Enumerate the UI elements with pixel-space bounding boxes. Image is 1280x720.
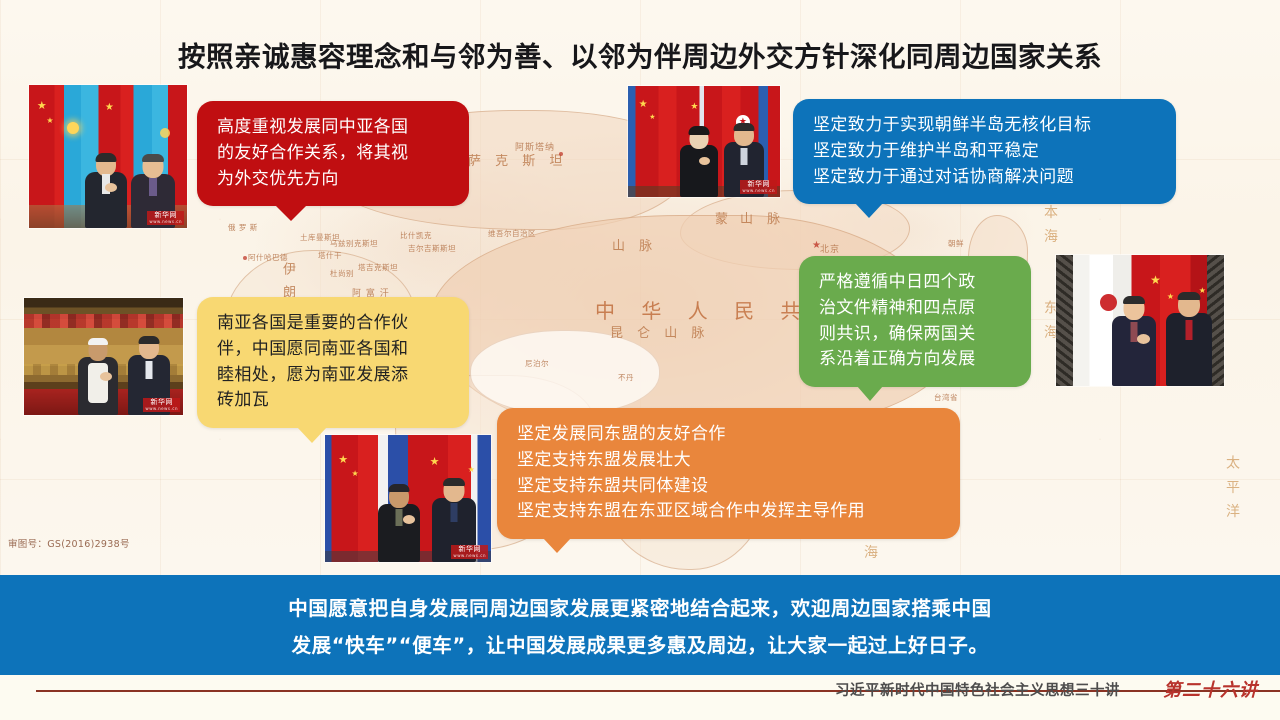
map-label-mongolia: 蒙: [715, 208, 733, 227]
photo-watermark-url: www.news.cn: [453, 554, 486, 558]
footer-series-title: 习近平新时代中国特色社会主义思想三十讲: [835, 679, 1120, 700]
handshake-icon: [403, 515, 415, 524]
map-label-russia: 俄 罗 斯: [228, 222, 258, 233]
callout-central-asia-line-3: 为外交优先方向: [217, 167, 451, 193]
callout-korea-line-2: 坚定致力于维护半岛和平稳定: [813, 139, 1158, 165]
map-label-taiwan-note: 台湾省: [934, 392, 958, 403]
figure-shinzo-abe: [1110, 294, 1158, 386]
callout-asean-line-2: 坚定支持东盟发展壮大: [517, 448, 942, 474]
callout-japan[interactable]: 严格遵循中日四个政 治文件精神和四点原 则共识，确保两国关 系沿着正确方向发展: [799, 256, 1031, 387]
flag-star-icon: ★: [1150, 273, 1161, 287]
callout-japan-line-4: 系沿着正确方向发展: [819, 347, 1013, 373]
map-label-tianshan-west: 山 脉: [612, 235, 657, 254]
map-label-pacific-ocean: 太 平 洋: [1222, 455, 1242, 521]
handshake-icon: [1137, 334, 1150, 344]
photo-south-asia: 新华网 www.news.cn: [24, 298, 183, 415]
callout-korea-line-1: 坚定致力于实现朝鲜半岛无核化目标: [813, 113, 1158, 139]
map-label-tajikistan: 塔吉克斯坦: [358, 262, 398, 273]
map-label-korea-peninsula: 朝鲜: [948, 238, 964, 249]
map-label-beijing: 北京: [820, 242, 840, 255]
bottom-banner: 中国愿意把自身发展同周边国家发展更紧密地结合起来，欢迎周边国家搭乘中国 发展“快…: [0, 575, 1280, 675]
photo-watermark: 新华网 www.news.cn: [740, 180, 777, 194]
photo-watermark-url: www.news.cn: [145, 407, 178, 411]
flag-star-icon: ★: [639, 99, 648, 110]
map-city-dot-ashgabat: [243, 256, 247, 260]
flag-star-icon-3: ★: [690, 102, 698, 112]
map-approval-number: 审图号：GS(2016)2938号: [8, 536, 130, 550]
flag-star-icon-2: ★: [352, 469, 359, 478]
callout-tail: [297, 427, 327, 443]
map-label-xinjiang: 维吾尔自治区: [488, 228, 536, 239]
map-label-kyrgyzstan: 吉尔吉斯斯坦: [408, 243, 456, 254]
callout-japan-line-2: 治文件精神和四点原: [819, 296, 1013, 322]
callout-japan-line-3: 则共识，确保两国关: [819, 322, 1013, 348]
callout-central-asia-line-1: 高度重视发展同中亚各国: [217, 115, 451, 141]
callout-tail: [543, 538, 571, 553]
callout-tail: [857, 386, 883, 401]
map-label-iran: 伊 朗: [278, 262, 297, 301]
flag-star-icon-3: ★: [430, 455, 440, 468]
map-label-kunlun: 昆 仑 山 脉: [610, 322, 709, 341]
map-label-bhutan: 不丹: [618, 372, 634, 383]
footer-lecture-number: 第二十六讲: [1163, 676, 1258, 702]
flag-star-icon-2: ★: [46, 116, 53, 125]
map-label-uzbekistan: 乌兹别克斯坦: [330, 238, 378, 249]
callout-south-asia-line-1: 南亚各国是重要的合作伙: [217, 311, 451, 337]
callout-central-asia[interactable]: 高度重视发展同中亚各国 的友好合作关系，将其视 为外交优先方向: [197, 101, 469, 206]
callout-asean[interactable]: 坚定发展同东盟的友好合作 坚定支持东盟发展壮大 坚定支持东盟共同体建设 坚定支持…: [497, 408, 960, 539]
handshake-icon: [105, 183, 117, 192]
callout-tail: [855, 203, 883, 218]
slide-root: 中 华 人 民 共 和 国 昆 仑 山 脉 萨 克 斯 坦 阿斯塔纳 蒙 山 脉…: [0, 0, 1280, 720]
flag-star-icon: ★: [338, 453, 348, 466]
callout-japan-line-1: 严格遵循中日四个政: [819, 270, 1013, 296]
flag-star-icon-4: ★: [468, 465, 475, 474]
callout-korea[interactable]: 坚定致力于实现朝鲜半岛无核化目标 坚定致力于维护半岛和平稳定 坚定致力于通过对话…: [793, 99, 1176, 204]
figure-xi-jinping: [83, 156, 129, 228]
slide-footer: 习近平新时代中国特色社会主义思想三十讲 第二十六讲: [0, 675, 1280, 720]
flag-star-icon-3: ★: [105, 102, 114, 113]
photo-japan: ★ ★ ★: [1056, 255, 1224, 386]
map-label-tianshan: 山 脉: [740, 208, 785, 227]
lattice-wall-left: [1056, 255, 1073, 386]
callout-south-asia[interactable]: 南亚各国是重要的合作伙 伴，中国愿同南亚各国和 睦相处，愿为南亚发展添 砖加瓦: [197, 297, 469, 428]
map-city-dot-astana: [559, 152, 563, 156]
page-title: 按照亲诚惠容理念和与邻为善、以邻为伴周边外交方针深化同周边国家关系: [0, 34, 1280, 74]
callout-asean-line-4: 坚定支持东盟在东亚区域合作中发挥主导作用: [517, 499, 942, 525]
callout-korea-line-3: 坚定致力于通过对话协商解决问题: [813, 165, 1158, 191]
callout-central-asia-line-2: 的友好合作关系，将其视: [217, 141, 451, 167]
figure-kim-jong-un: [678, 131, 720, 197]
banner-line-1: 中国愿意把自身发展同周边国家发展更紧密地结合起来，欢迎周边国家搭乘中国: [288, 592, 992, 621]
callout-asean-line-3: 坚定支持东盟共同体建设: [517, 474, 942, 500]
banner-line-2: 发展“快车”“便车”，让中国发展成果更多惠及周边，让大家一起过上好日子。: [292, 629, 989, 658]
photo-watermark-url: www.news.cn: [149, 220, 182, 224]
figure-narendra-modi: [76, 337, 120, 415]
callout-south-asia-line-2: 伴，中国愿同南亚各国和: [217, 337, 451, 363]
photo-central-asia: ★ ★ ★ 新华网 www.news.cn: [29, 85, 187, 228]
photo-asean: ★ ★ ★ ★ 新华网 www.news.cn: [325, 435, 491, 562]
flag-emblem-sun-2: [160, 128, 170, 138]
photo-korea: ★ ★ ★ ★ 新华网 www.news.cn: [628, 86, 780, 197]
photo-watermark: 新华网 www.news.cn: [451, 545, 488, 559]
map-label-nepal: 尼泊尔: [525, 358, 549, 369]
map-capital-star-beijing: ★: [812, 240, 821, 251]
map-label-astana: 阿斯塔纳: [515, 140, 555, 153]
flag-star-icon: ★: [37, 99, 47, 112]
callout-south-asia-line-4: 砖加瓦: [217, 388, 451, 414]
museum-red-frieze: [24, 314, 183, 328]
callout-tail: [275, 205, 307, 221]
photo-watermark: 新华网 www.news.cn: [143, 398, 180, 412]
callout-south-asia-line-3: 睦相处，愿为南亚发展添: [217, 363, 451, 389]
flag-star-icon-2: ★: [649, 113, 655, 121]
map-label-bishkek: 比什凯克: [400, 230, 432, 241]
map-label-dushanbe: 杜尚别: [330, 268, 354, 279]
map-label-tashkent: 塔什干: [318, 250, 342, 261]
flag-emblem-sun: [67, 122, 79, 134]
figure-xi-jinping: [1164, 290, 1214, 386]
photo-watermark: 新华网 www.news.cn: [147, 211, 184, 225]
callout-asean-line-1: 坚定发展同东盟的友好合作: [517, 422, 942, 448]
photo-watermark-url: www.news.cn: [742, 189, 775, 193]
figure-rodrigo-duterte: [376, 484, 422, 562]
